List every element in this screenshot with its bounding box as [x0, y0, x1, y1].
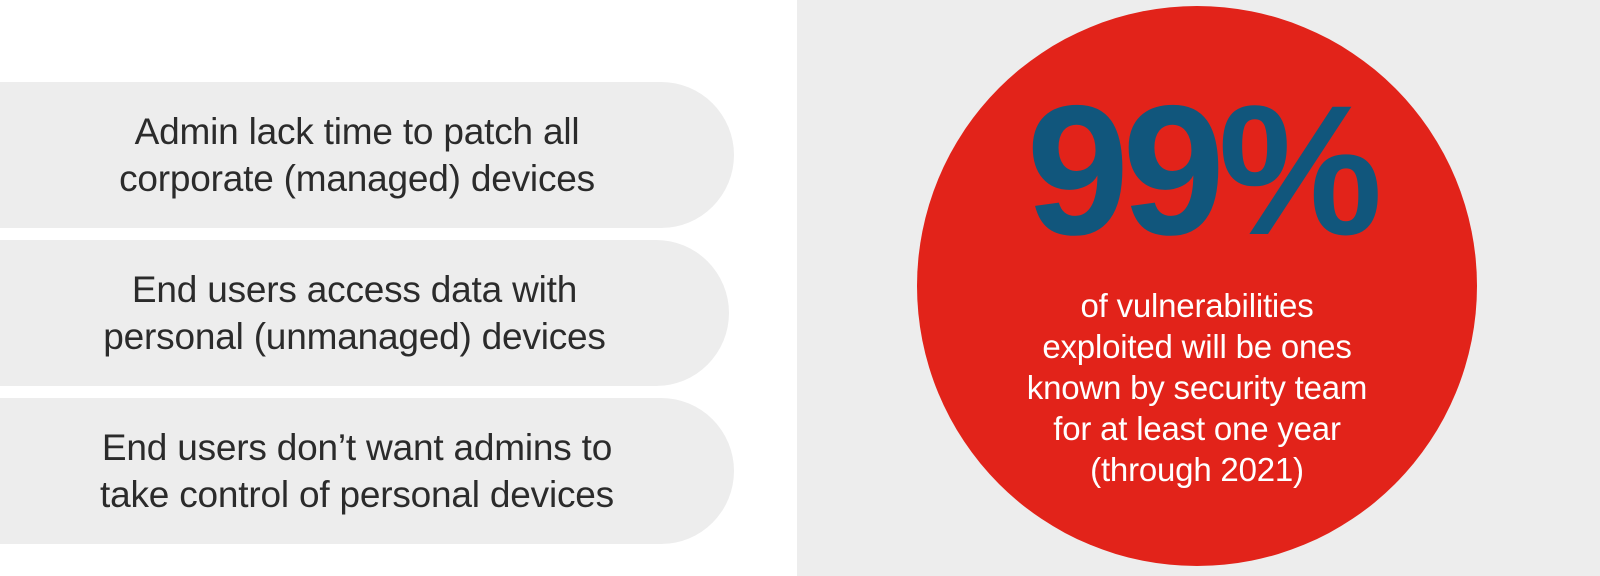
statistic-content: 99% of vulnerabilities exploited will be…: [917, 6, 1477, 566]
challenge-pill-list: Admin lack time to patch all corporate (…: [0, 0, 797, 576]
challenges-panel: Admin lack time to patch all corporate (…: [0, 0, 797, 576]
statistic-value: 99%: [1026, 84, 1375, 259]
challenge-pill-3: End users don’t want admins to take cont…: [0, 398, 734, 544]
statistic-circle: 99% of vulnerabilities exploited will be…: [917, 6, 1477, 566]
statistic-caption: of vulnerabilities exploited will be one…: [957, 285, 1437, 490]
challenge-pill-2-label: End users access data with personal (unm…: [0, 266, 729, 360]
challenge-pill-1: Admin lack time to patch all corporate (…: [0, 82, 734, 228]
challenge-pill-1-label: Admin lack time to patch all corporate (…: [0, 108, 734, 202]
challenge-pill-3-label: End users don’t want admins to take cont…: [0, 424, 734, 518]
statistic-panel: 99% of vulnerabilities exploited will be…: [797, 0, 1600, 576]
infographic-root: Admin lack time to patch all corporate (…: [0, 0, 1600, 576]
challenge-pill-2: End users access data with personal (unm…: [0, 240, 729, 386]
